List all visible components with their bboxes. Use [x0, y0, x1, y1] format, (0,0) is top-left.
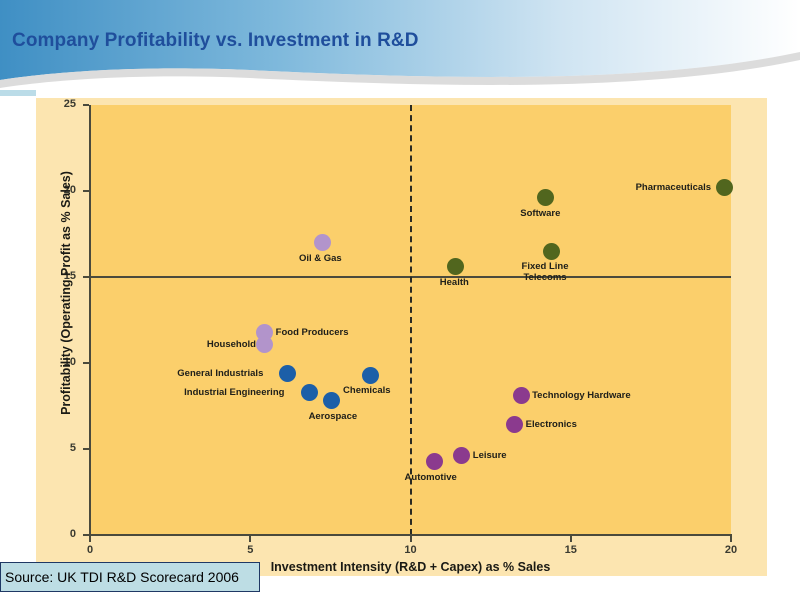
data-point-label: Automotive: [405, 472, 457, 483]
data-point-label: Fixed Line Telecoms: [522, 261, 569, 283]
data-point[interactable]: [453, 447, 470, 464]
data-point-label: Food Producers: [276, 327, 349, 338]
y-tick-mark: [83, 448, 89, 450]
y-tick-mark: [83, 362, 89, 364]
data-point[interactable]: [447, 258, 464, 275]
data-point[interactable]: [537, 189, 554, 206]
y-axis-line: [89, 105, 91, 536]
data-point-label: Electronics: [526, 419, 577, 430]
x-tick-mark: [570, 536, 572, 542]
data-point[interactable]: [279, 365, 296, 382]
x-tick-label: 5: [235, 544, 265, 556]
x-tick-label: 15: [556, 544, 586, 556]
data-point-label: Household: [207, 339, 256, 350]
data-point-label: Industrial Engineering: [184, 387, 284, 398]
x-tick-mark: [89, 536, 91, 542]
data-point[interactable]: [716, 179, 733, 196]
plot-area: Oil & GasFood ProducersHouseholdGeneral …: [90, 105, 731, 535]
y-axis-title: Profitability (Operating Profit as % Sal…: [59, 113, 73, 473]
source-note: Source: UK TDI R&D Scorecard 2006: [0, 562, 260, 592]
data-point-label: Leisure: [473, 450, 507, 461]
y-tick-mark: [83, 276, 89, 278]
data-point[interactable]: [323, 392, 340, 409]
data-point[interactable]: [506, 416, 523, 433]
x-tick-label: 0: [75, 544, 105, 556]
y-tick-label: 25: [36, 98, 76, 110]
data-point[interactable]: [314, 234, 331, 251]
data-point[interactable]: [426, 453, 443, 470]
data-point[interactable]: [543, 243, 560, 260]
data-point-label: Oil & Gas: [299, 253, 342, 264]
data-point-label: Health: [440, 277, 469, 288]
reference-line-investment-10: [410, 105, 412, 535]
data-point[interactable]: [256, 336, 273, 353]
x-tick-label: 10: [396, 544, 426, 556]
source-label: Source: UK TDI R&D Scorecard 2006: [5, 569, 239, 585]
x-tick-label: 20: [716, 544, 746, 556]
page-title: Company Profitability vs. Investment in …: [12, 30, 419, 52]
y-tick-label: 0: [36, 528, 76, 540]
y-tick-mark: [83, 190, 89, 192]
header-banner: Company Profitability vs. Investment in …: [0, 0, 800, 96]
data-point-label: General Industrials: [177, 368, 263, 379]
x-tick-mark: [249, 536, 251, 542]
data-point[interactable]: [362, 367, 379, 384]
data-point-label: Technology Hardware: [532, 390, 631, 401]
x-tick-mark: [410, 536, 412, 542]
data-point-label: Aerospace: [309, 411, 358, 422]
data-point-label: Pharmaceuticals: [636, 182, 712, 193]
x-tick-mark: [730, 536, 732, 542]
y-tick-mark: [83, 104, 89, 106]
chart-frame: Oil & GasFood ProducersHouseholdGeneral …: [36, 98, 767, 576]
data-point-label: Software: [520, 208, 560, 219]
data-point[interactable]: [301, 384, 318, 401]
data-point-label: Chemicals: [343, 385, 391, 396]
data-point[interactable]: [513, 387, 530, 404]
